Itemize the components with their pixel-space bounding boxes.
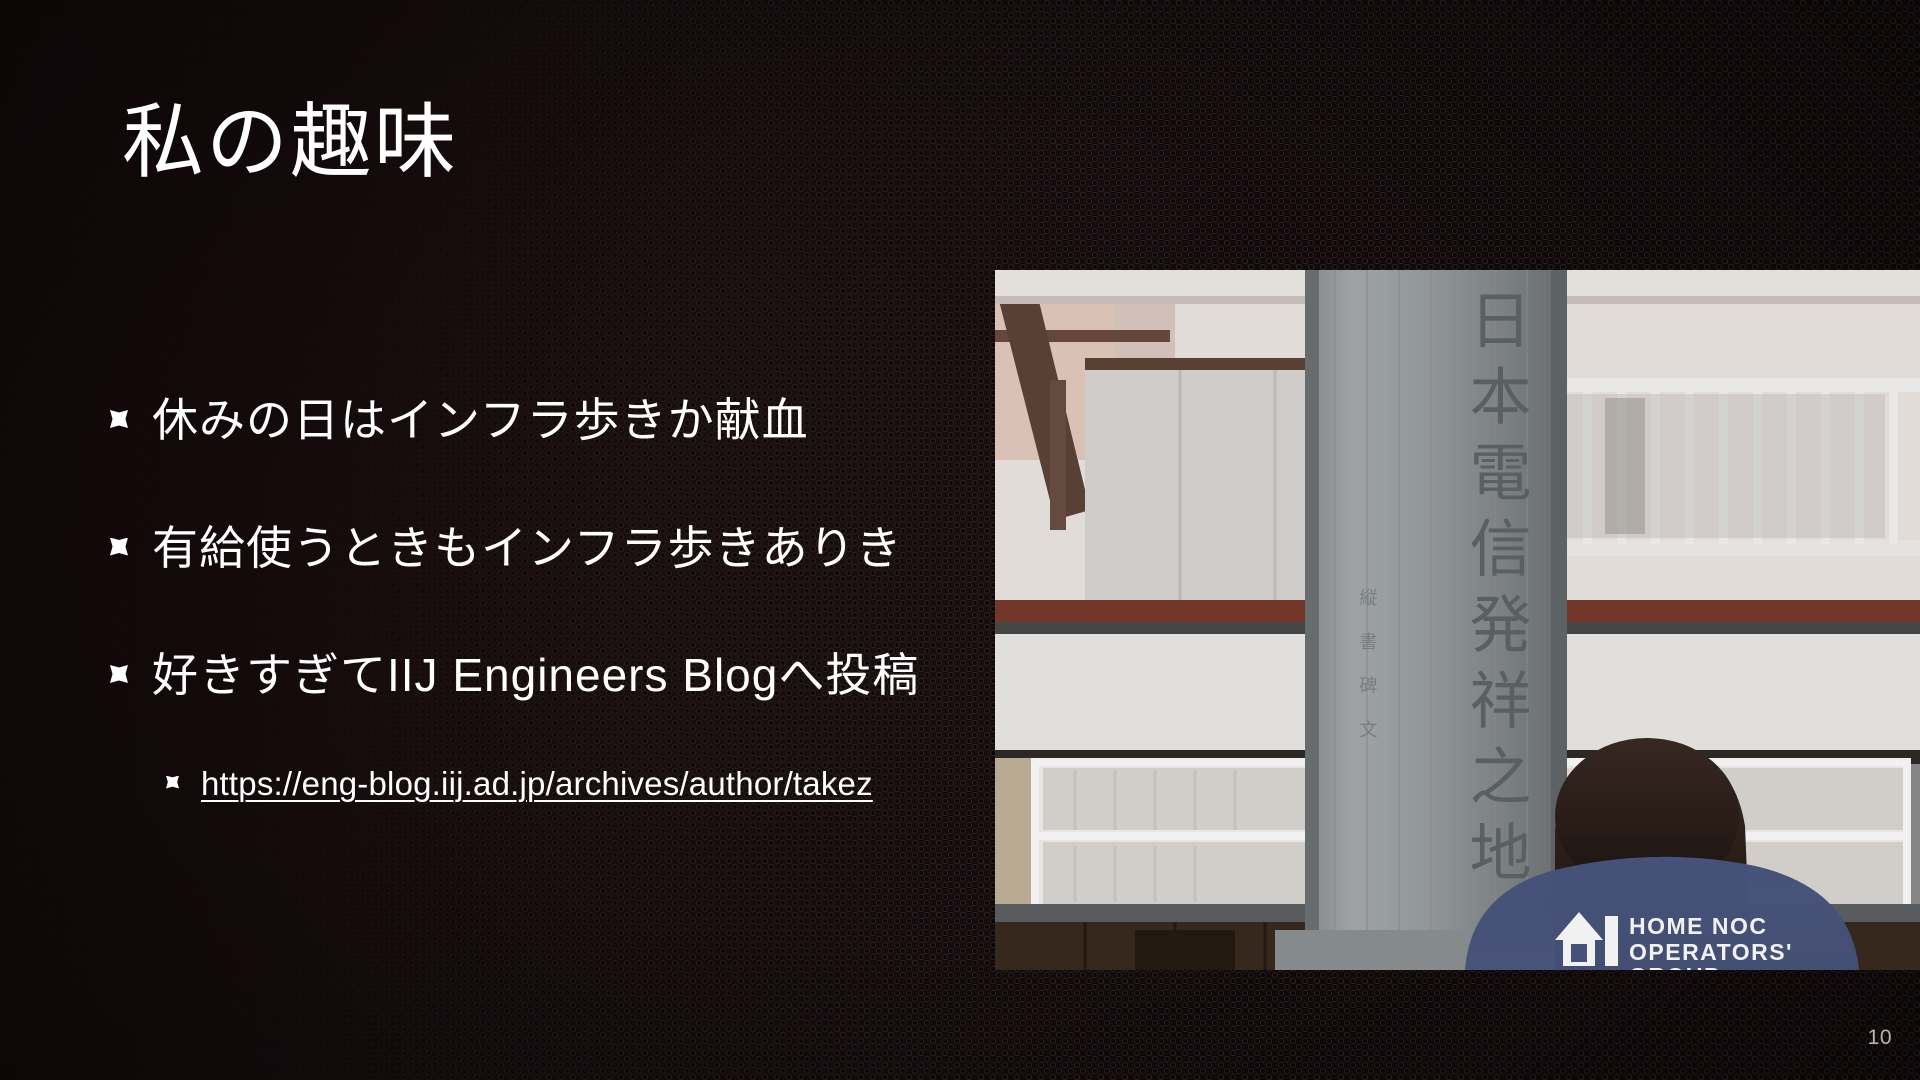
list-item-label: 休みの日はインフラ歩きか献血 — [152, 392, 809, 450]
list-item: 好きすぎてIIJ Engineers Blogへ投稿 — [110, 647, 990, 705]
page-number: 10 — [1868, 1026, 1892, 1050]
list-item: 有給使うときもインフラ歩きありき — [110, 520, 990, 578]
presentation-slide: 私の趣味 休みの日はインフラ歩きか献血 有給使うときもインフラ歩きありき 好きす… — [0, 0, 1920, 1080]
star-bullet-icon — [110, 538, 128, 556]
blog-author-link[interactable]: https://eng-blog.iij.ad.jp/archives/auth… — [201, 763, 873, 806]
star-bullet-icon — [166, 776, 179, 789]
star-bullet-icon — [110, 665, 128, 683]
list-item-label: 有給使うときもインフラ歩きありき — [152, 520, 903, 578]
slide-photo: 日本電信発祥之地 記念 縦書碑文 HOME NOC OPERATOR — [995, 270, 1920, 970]
list-item: 休みの日はインフラ歩きか献血 — [110, 392, 990, 450]
sub-bullet-list: https://eng-blog.iij.ad.jp/archives/auth… — [166, 763, 990, 806]
bullet-list: 休みの日はインフラ歩きか献血 有給使うときもインフラ歩きありき 好きすぎてIIJ… — [110, 392, 990, 805]
photo-illustration: 日本電信発祥之地 記念 縦書碑文 HOME NOC OPERATOR — [995, 270, 1920, 970]
sub-list-item: https://eng-blog.iij.ad.jp/archives/auth… — [166, 763, 990, 806]
list-item-label: 好きすぎてIIJ Engineers Blogへ投稿 — [152, 647, 919, 705]
slide-title: 私の趣味 — [122, 96, 458, 190]
star-bullet-icon — [110, 410, 128, 428]
